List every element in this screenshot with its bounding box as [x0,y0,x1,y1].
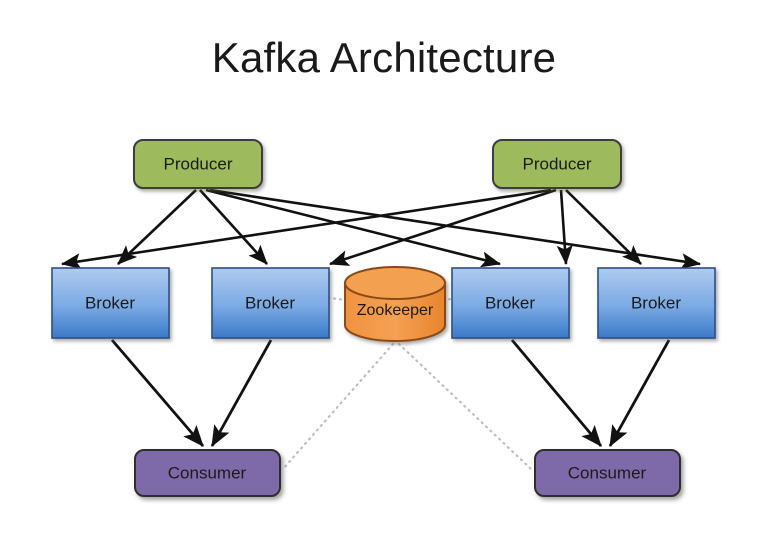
consumer-node-2[interactable]: Consumer [535,450,680,496]
broker-label-2: Broker [245,293,295,312]
edge-producer1-broker2 [200,190,267,264]
broker-node-2[interactable]: Broker [212,268,329,338]
zookeeper-cylinder-top [345,267,445,299]
edge-producer2-broker2 [330,190,556,264]
edge-broker3-consumer2 [512,340,601,446]
zookeeper-node[interactable]: Zookeeper [345,267,445,341]
consumer-label-1: Consumer [168,463,247,482]
producer-node-1[interactable]: Producer [134,140,262,188]
producer-label-1: Producer [164,154,233,173]
producer-node-2[interactable]: Producer [493,140,621,188]
broker-label-3: Broker [485,293,535,312]
broker-label-1: Broker [85,293,135,312]
consumer-node-1[interactable]: Consumer [135,450,280,496]
edge-zookeeper-consumer2 [399,344,531,469]
broker-node-4[interactable]: Broker [598,268,715,338]
producer-to-broker-edges [62,190,700,264]
edge-broker4-consumer2 [610,340,669,446]
edge-broker1-consumer1 [112,340,203,446]
consumer-label-2: Consumer [568,463,647,482]
zookeeper-label: Zookeeper [357,302,434,319]
edge-zookeeper-consumer1 [283,344,393,469]
broker-label-4: Broker [631,293,681,312]
broker-node-3[interactable]: Broker [452,268,569,338]
diagram-canvas: Kafka Architecture [0,0,768,554]
edge-producer2-broker3 [561,190,566,264]
kafka-architecture-diagram: Producer Producer Broker Broker Broker B… [0,0,768,554]
edge-producer2-broker1 [62,190,551,264]
edge-producer2-broker4 [566,190,641,264]
edge-broker2-consumer1 [212,340,271,446]
broker-to-consumer-edges [112,340,669,446]
broker-node-1[interactable]: Broker [52,268,169,338]
producer-label-2: Producer [523,154,592,173]
